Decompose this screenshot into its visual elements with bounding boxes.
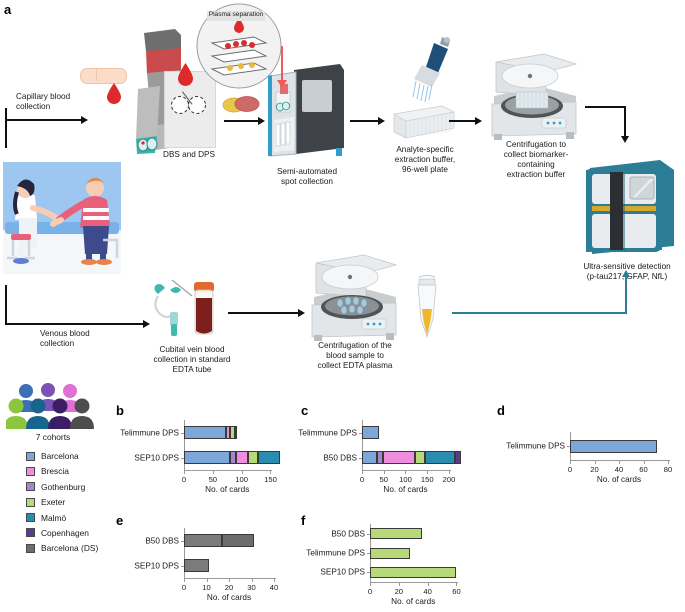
arrow-dbs-to-machine xyxy=(224,120,260,122)
x-axis-title: No. of cards xyxy=(570,475,668,484)
centrifuge-2-icon xyxy=(306,253,402,347)
machine-red-arrow-head xyxy=(277,80,287,88)
x-tick xyxy=(384,471,385,474)
machine-red-arrow xyxy=(281,46,283,82)
centrifugation2-line2: blood sample to xyxy=(300,351,410,361)
venous-line1: Venous blood xyxy=(40,329,130,339)
semi-automated-label: Semi-automated spot collection xyxy=(258,167,356,187)
bar-segment-exeter[interactable] xyxy=(370,567,456,578)
x-tick xyxy=(270,471,271,474)
bar-segment-exeter[interactable] xyxy=(370,548,410,559)
arrow-tube-to-centrifuge2 xyxy=(228,312,300,314)
capillary-arrow-line xyxy=(5,119,83,121)
x-tick xyxy=(405,471,406,474)
legend-label-exeter: Exeter xyxy=(41,497,65,507)
x-tick-label: 200 xyxy=(443,475,456,484)
bar-telimmune-dps[interactable] xyxy=(570,440,657,453)
capillary-label-line2: collection xyxy=(16,102,106,112)
x-tick xyxy=(370,583,371,586)
analyte-line2: extraction buffer, xyxy=(378,155,472,165)
x-tick xyxy=(184,471,185,474)
arrow-plasma-to-detector-head xyxy=(622,270,630,277)
legend-item-brescia: Brescia xyxy=(26,466,98,476)
x-tick-label: 50 xyxy=(380,475,388,484)
x-tick-label: 40 xyxy=(270,583,278,592)
legend-item-malmo: Malmö xyxy=(26,513,98,523)
centrifugation1-line4: extraction buffer xyxy=(484,170,588,180)
bar-b50-dbs[interactable] xyxy=(362,451,461,464)
cubital-line1: Cubital vein blood xyxy=(140,345,244,355)
x-tick-label: 20 xyxy=(225,583,233,592)
bar-segment-malm-[interactable] xyxy=(425,451,455,464)
clinic-illustration xyxy=(3,162,121,274)
centrifugation-1-label: Centrifugation to collect biomarker- con… xyxy=(484,140,588,180)
venous-line2: collection xyxy=(40,339,130,349)
arrow-machine-to-plate-head xyxy=(378,117,385,125)
capillary-arrow-stem xyxy=(5,108,7,148)
x-tick xyxy=(399,583,400,586)
x-tick-label: 150 xyxy=(421,475,434,484)
venous-arrow-head xyxy=(143,320,150,328)
venous-arrow-line xyxy=(5,323,145,325)
centrifugation-2-label: Centrifugation of the blood sample to co… xyxy=(300,341,410,371)
arrow-plasma-to-detector xyxy=(452,312,627,314)
96-well-plate-icon xyxy=(390,104,456,142)
arrow-plasma-to-detector-up xyxy=(625,276,627,313)
x-axis-title: No. of cards xyxy=(184,593,274,602)
arrow-centrifuge-to-detector-head xyxy=(621,136,629,143)
x-tick-label: 0 xyxy=(568,465,572,474)
x-tick xyxy=(213,471,214,474)
x-tick xyxy=(184,579,185,582)
arrow-tube-to-centrifuge2-head xyxy=(298,309,305,317)
x-tick xyxy=(252,579,253,582)
edta-tube-icon xyxy=(152,272,224,342)
x-tick xyxy=(570,461,571,464)
semi-automated-line1: Semi-automated xyxy=(258,167,356,177)
venous-label: Venous blood collection xyxy=(40,329,130,349)
x-tick-label: 30 xyxy=(247,583,255,592)
capillary-label-line1: Capillary blood xyxy=(16,92,106,102)
x-tick-label: 150 xyxy=(264,475,277,484)
y-axis-label: Telimmune DPS xyxy=(162,428,357,437)
x-tick xyxy=(449,471,450,474)
y-axis-label: Telimmune DPS xyxy=(370,442,565,451)
cubital-line3: EDTA tube xyxy=(140,365,244,375)
bar-b50-dbs[interactable] xyxy=(370,528,422,539)
bar-segment-brescia[interactable] xyxy=(383,451,415,464)
finger-knuckle-line xyxy=(96,69,97,81)
blood-drop-card-icon xyxy=(177,62,194,86)
cubital-label: Cubital vein blood collection in standar… xyxy=(140,345,244,375)
arrow-centrifuge-to-detector xyxy=(585,106,625,108)
x-tick-label: 20 xyxy=(590,465,598,474)
legend-item-exeter: Exeter xyxy=(26,497,98,507)
bar-segment-copenhagen[interactable] xyxy=(455,451,461,464)
legend-swatch-malmo xyxy=(26,513,35,522)
x-tick-label: 0 xyxy=(360,475,364,484)
legend-label-malmo: Malmö xyxy=(41,513,66,523)
x-tick-label: 100 xyxy=(235,475,248,484)
x-tick xyxy=(362,471,363,474)
plasma-tube-icon xyxy=(409,275,445,341)
x-tick-label: 20 xyxy=(395,587,403,596)
arrow-dbs-to-machine-head xyxy=(258,117,265,125)
x-tick-label: 0 xyxy=(182,583,186,592)
x-tick xyxy=(668,461,669,464)
capillary-arrow-head xyxy=(81,116,88,124)
x-axis-title: No. of cards xyxy=(184,485,270,494)
x-tick-label: 0 xyxy=(368,587,372,596)
panel-letter-d: d xyxy=(497,403,505,418)
bar-segment-barcelona[interactable] xyxy=(570,440,657,453)
y-axis-label: SEP10 DPS xyxy=(170,568,365,577)
x-tick-label: 40 xyxy=(615,465,623,474)
panel-letter-f: f xyxy=(301,513,305,528)
plasma-separation-label: Plasma separation xyxy=(207,11,265,18)
panel-letter-a: a xyxy=(4,2,11,17)
legend-swatch-barcelona-ds xyxy=(26,544,35,553)
analyte-line3: 96-well plate xyxy=(378,165,472,175)
panel-letter-b: b xyxy=(116,403,124,418)
legend-item-gothenburg: Gothenburg xyxy=(26,482,98,492)
semi-automated-line2: spot collection xyxy=(258,177,356,187)
centrifugation1-line2: collect biomarker- xyxy=(484,150,588,160)
arrow-machine-to-plate xyxy=(350,120,380,122)
legend-swatch-exeter xyxy=(26,498,35,507)
chart-f-plot: B50 DBSTelimmune DPSSEP10 DPS0204060No. … xyxy=(370,524,468,582)
centrifuge-1-icon xyxy=(486,52,582,146)
detection-instrument-icon xyxy=(578,152,678,258)
x-tick-label: 40 xyxy=(423,587,431,596)
bar-segment-barcelona[interactable] xyxy=(362,426,379,439)
y-axis-label: SEP10 DPS xyxy=(0,453,179,462)
x-tick-label: 60 xyxy=(452,587,460,596)
bar-telimmune-dps[interactable] xyxy=(362,426,379,439)
x-tick-label: 100 xyxy=(399,475,412,484)
x-tick xyxy=(428,583,429,586)
centrifugation2-line1: Centrifugation of the xyxy=(300,341,410,351)
y-axis-label: B50 DBS xyxy=(162,453,357,462)
legend-label-brescia: Brescia xyxy=(41,466,69,476)
x-axis-title: No. of cards xyxy=(362,485,449,494)
legend-swatch-gothenburg xyxy=(26,482,35,491)
centrifugation1-line3: containing xyxy=(484,160,588,170)
x-tick xyxy=(207,579,208,582)
x-tick xyxy=(595,461,596,464)
chart-d-plot: Telimmune DPS020406080No. of cards xyxy=(570,432,668,460)
panel-letter-e: e xyxy=(116,513,123,528)
x-tick xyxy=(456,583,457,586)
x-tick xyxy=(619,461,620,464)
arrow-plate-to-centrifuge-head xyxy=(475,117,482,125)
x-tick-label: 50 xyxy=(209,475,217,484)
blood-drop-finger-icon xyxy=(106,82,122,104)
x-axis-title: No. of cards xyxy=(370,597,456,606)
cubital-line2: collection in standard xyxy=(140,355,244,365)
cohort-people-icons xyxy=(6,382,96,430)
capillary-label: Capillary blood collection xyxy=(16,92,106,112)
analyte-line1: Analyte-specific xyxy=(378,145,472,155)
bar-segment-exeter[interactable] xyxy=(370,528,422,539)
x-tick-label: 80 xyxy=(664,465,672,474)
spot-collection-machine-icon xyxy=(266,62,346,158)
x-tick xyxy=(242,471,243,474)
bar-telimmune-dps[interactable] xyxy=(370,548,410,559)
centrifugation1-line1: Centrifugation to xyxy=(484,140,588,150)
legend-swatch-brescia xyxy=(26,467,35,476)
bar-segment-exeter[interactable] xyxy=(415,451,425,464)
sample-discs-icon xyxy=(221,94,261,114)
analyte-buffer-label: Analyte-specific extraction buffer, 96-w… xyxy=(378,145,472,175)
centrifugation2-line3: collect EDTA plasma xyxy=(300,361,410,371)
x-tick-label: 60 xyxy=(639,465,647,474)
multichannel-pipette-icon xyxy=(404,35,458,105)
y-axis-label: SEP10 DPS xyxy=(0,561,179,570)
x-tick xyxy=(644,461,645,464)
x-tick xyxy=(427,471,428,474)
venous-arrow-stem xyxy=(5,285,7,325)
x-tick xyxy=(229,579,230,582)
arrow-centrifuge-to-detector-down xyxy=(624,106,626,138)
x-tick-label: 10 xyxy=(202,583,210,592)
bar-sep10-dps[interactable] xyxy=(370,567,456,578)
arrow-plate-to-centrifuge xyxy=(449,120,477,122)
y-axis-label: B50 DBS xyxy=(170,529,365,538)
y-axis-label: B50 DBS xyxy=(0,536,179,545)
dbs-dps-label: DBS and DPS xyxy=(154,150,224,160)
x-tick-label: 0 xyxy=(182,475,186,484)
legend-label-gothenburg: Gothenburg xyxy=(41,482,85,492)
y-axis-label: Telimmune DPS xyxy=(170,549,365,558)
bar-segment-barcelona[interactable] xyxy=(362,451,377,464)
x-tick xyxy=(274,579,275,582)
y-axis-label: Telimmune DPS xyxy=(0,428,179,437)
panel-letter-c: c xyxy=(301,403,308,418)
